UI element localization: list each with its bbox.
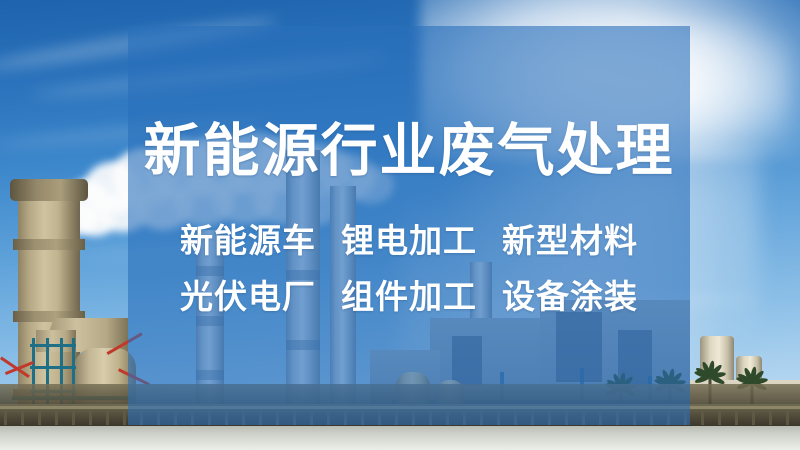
seawall-post <box>38 411 41 425</box>
seawall-post <box>701 411 704 425</box>
seawall-post <box>72 411 75 425</box>
banner-subtitle-line-1: 新能源车 锂电加工 新型材料 <box>180 224 638 257</box>
smoke-puff <box>78 210 114 236</box>
seawall-post <box>786 411 789 425</box>
smokestack-cap <box>10 179 88 201</box>
seawall-post <box>718 411 721 425</box>
banner-text-block: 新能源行业废气处理 新能源车 锂电加工 新型材料 光伏电厂 组件加工 设备涂装 <box>128 26 690 425</box>
duct-housing <box>36 330 76 352</box>
seawall-post <box>89 411 92 425</box>
seawall-post <box>106 411 109 425</box>
scaffold-beam <box>30 366 76 369</box>
scaffold-beam <box>30 344 76 347</box>
banner-subtitle-line-2: 光伏电厂 组件加工 设备涂装 <box>180 280 638 313</box>
seawall-post <box>123 411 126 425</box>
smokestack-ring <box>13 239 85 250</box>
banner-image: 新能源行业废气处理 新能源车 锂电加工 新型材料 光伏电厂 组件加工 设备涂装 <box>0 0 800 450</box>
seawall-post <box>55 411 58 425</box>
seawall-post <box>4 411 7 425</box>
banner-title: 新能源行业废气处理 <box>144 122 675 182</box>
water-surface <box>0 426 800 450</box>
seawall-post <box>769 411 772 425</box>
seawall-post <box>752 411 755 425</box>
seawall-post <box>21 411 24 425</box>
seawall-post <box>735 411 738 425</box>
